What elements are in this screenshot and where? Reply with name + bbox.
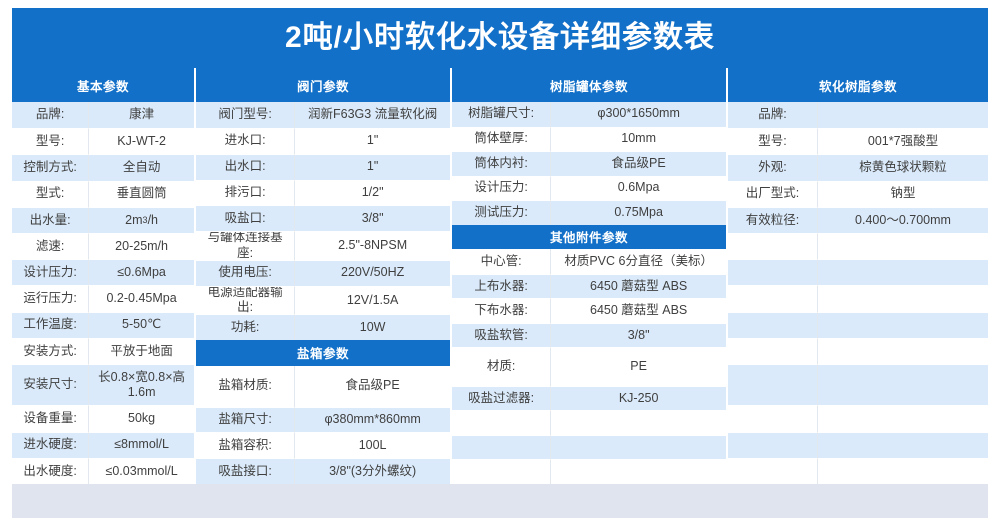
row-label: 盐箱材质: — [196, 366, 295, 407]
row-value: φ300*1650mm — [551, 102, 726, 127]
row-value: 5-50℃ — [89, 312, 194, 338]
table-row: 筒体壁厚: 10mm — [452, 127, 726, 152]
section-header-other-accessories: 其他附件参数 — [452, 225, 726, 250]
row-value: 食品级PE — [551, 151, 726, 176]
row-value — [818, 405, 988, 431]
group-header-valve: 阀门参数 — [196, 68, 452, 102]
group-header-resin-tank: 树脂罐体参数 — [452, 68, 728, 102]
table-row: 下布水器: 6450 蘑菇型 ABS — [452, 298, 726, 323]
table-row: 吸盐软管: 3/8" — [452, 323, 726, 348]
table-row-empty — [452, 410, 726, 435]
row-label: 吸盐口: — [196, 205, 295, 231]
row-value: 1/2" — [295, 180, 450, 206]
group-header-row: 基本参数 阀门参数 树脂罐体参数 软化树脂参数 — [12, 68, 988, 102]
row-value: 材质PVC 6分直径（美标） — [551, 249, 726, 274]
row-label — [728, 405, 818, 431]
row-label: 安装尺寸: — [12, 364, 89, 405]
table-row: 品牌: — [728, 102, 988, 128]
table-row-empty — [452, 459, 726, 484]
row-value — [818, 233, 988, 259]
page-title-band: 2吨/小时软化水设备详细参数表 — [12, 8, 988, 68]
row-label: 安装方式: — [12, 338, 89, 364]
table-row: 盐箱尺寸: φ380mm*860mm — [196, 407, 450, 433]
row-value — [818, 102, 988, 128]
row-value: KJ-WT-2 — [89, 128, 194, 154]
row-value: 平放于地面 — [89, 338, 194, 364]
table-row-empty — [728, 364, 988, 405]
table-row: 型号: 001*7强酸型 — [728, 128, 988, 154]
table-row-empty — [728, 233, 988, 259]
table-row: 安装尺寸: 长0.8×宽0.8×高1.6m — [12, 364, 194, 405]
table-row-empty — [728, 458, 988, 484]
row-label: 吸盐过滤器: — [452, 386, 551, 411]
table-row-empty — [728, 432, 988, 458]
table-row: 运行压力: 0.2-0.45Mpa — [12, 285, 194, 311]
table-row: 排污口: 1/2" — [196, 180, 450, 206]
row-value — [818, 458, 988, 484]
row-value: 50kg — [89, 405, 194, 431]
row-value — [818, 338, 988, 364]
section-header-salt-box: 盐箱参数 — [196, 340, 450, 366]
row-label: 设计压力: — [12, 259, 89, 285]
row-label: 出水口: — [196, 154, 295, 180]
table-row: 安装方式: 平放于地面 — [12, 338, 194, 364]
row-label — [452, 459, 551, 484]
parameter-grid: 品牌: 康津 型号: KJ-WT-2 控制方式: 全自动 型式: 垂直圆筒 出水… — [12, 102, 988, 484]
row-value: 6450 蘑菇型 ABS — [551, 298, 726, 323]
row-label: 吸盐接口: — [196, 458, 295, 484]
table-row: 阀门型号: 润新F63G3 流量软化阀 — [196, 102, 450, 128]
table-row-empty — [452, 435, 726, 460]
row-value: 001*7强酸型 — [818, 128, 988, 154]
row-value: ≤0.03mmol/L — [89, 458, 194, 484]
row-label: 排污口: — [196, 180, 295, 206]
row-label — [452, 435, 551, 460]
parameter-table-page: 2吨/小时软化水设备详细参数表 基本参数 阀门参数 树脂罐体参数 软化树脂参数 … — [0, 0, 1000, 529]
page-title: 2吨/小时软化水设备详细参数表 — [285, 23, 715, 53]
row-label: 品牌: — [12, 102, 89, 128]
row-value — [818, 432, 988, 458]
group-header-resin: 软化树脂参数 — [728, 68, 988, 102]
row-label: 树脂罐尺寸: — [452, 102, 551, 127]
row-value — [551, 435, 726, 460]
group-header-basic: 基本参数 — [12, 68, 196, 102]
row-label — [728, 285, 818, 311]
table-row: 外观: 棕黄色球状颗粒 — [728, 154, 988, 180]
row-value — [551, 459, 726, 484]
column-group-valve: 阀门型号: 润新F63G3 流量软化阀 进水口: 1" 出水口: 1" 排污口:… — [196, 102, 452, 484]
row-value: 康津 — [89, 102, 194, 128]
row-label: 型式: — [12, 181, 89, 207]
row-value: 10W — [295, 314, 450, 340]
table-row: 出水口: 1" — [196, 154, 450, 180]
row-label: 出水硬度: — [12, 458, 89, 484]
row-label: 运行压力: — [12, 285, 89, 311]
row-label: 盐箱容积: — [196, 432, 295, 458]
row-value: 20-25m/h — [89, 233, 194, 259]
table-row: 设计压力: ≤0.6Mpa — [12, 259, 194, 285]
table-row: 中心管: 材质PVC 6分直径（美标） — [452, 249, 726, 274]
row-value: 220V/50HZ — [295, 260, 450, 286]
row-label: 电源适配器输出: — [196, 286, 295, 315]
row-value: 2m3/h — [89, 207, 194, 233]
row-label: 设计压力: — [452, 176, 551, 201]
table-row: 测试压力: 0.75Mpa — [452, 200, 726, 225]
row-value: φ380mm*860mm — [295, 407, 450, 433]
row-label: 筒体内衬: — [452, 151, 551, 176]
row-label: 进水硬度: — [12, 432, 89, 458]
row-value: 全自动 — [89, 154, 194, 180]
row-label: 滤速: — [12, 233, 89, 259]
row-value: 0.75Mpa — [551, 200, 726, 225]
row-label: 吸盐软管: — [452, 323, 551, 348]
table-row: 功耗: 10W — [196, 314, 450, 340]
table-row: 出厂型式: 钠型 — [728, 181, 988, 207]
table-row: 树脂罐尺寸: φ300*1650mm — [452, 102, 726, 127]
table-row: 控制方式: 全自动 — [12, 154, 194, 180]
row-value: 食品级PE — [295, 366, 450, 407]
table-row-empty — [728, 259, 988, 285]
table-row: 型式: 垂直圆筒 — [12, 181, 194, 207]
row-value: ≤0.6Mpa — [89, 259, 194, 285]
table-row: 设备重量: 50kg — [12, 405, 194, 431]
row-label: 进水口: — [196, 128, 295, 154]
row-label: 出厂型式: — [728, 181, 818, 207]
table-row: 电源适配器输出: 12V/1.5A — [196, 286, 450, 315]
row-label: 工作温度: — [12, 312, 89, 338]
bottom-band — [12, 484, 988, 518]
table-row: 筒体内衬: 食品级PE — [452, 151, 726, 176]
table-row-empty — [728, 405, 988, 431]
row-value: 钠型 — [818, 181, 988, 207]
row-value: 0.400～0.700mm — [818, 207, 988, 233]
row-value: 2.5"-8NPSM — [295, 231, 450, 260]
table-row: 滤速: 20-25m/h — [12, 233, 194, 259]
table-row: 型号: KJ-WT-2 — [12, 128, 194, 154]
row-label — [728, 312, 818, 338]
table-row: 使用电压: 220V/50HZ — [196, 260, 450, 286]
row-value: 长0.8×宽0.8×高1.6m — [89, 364, 194, 405]
column-group-resin-tank: 树脂罐尺寸: φ300*1650mm 筒体壁厚: 10mm 筒体内衬: 食品级P… — [452, 102, 728, 484]
row-value: 12V/1.5A — [295, 286, 450, 315]
row-label: 测试压力: — [452, 200, 551, 225]
row-value: 润新F63G3 流量软化阀 — [295, 102, 450, 128]
row-label — [728, 458, 818, 484]
row-value: 10mm — [551, 127, 726, 152]
table-row: 与罐体连接基座: 2.5"-8NPSM — [196, 231, 450, 260]
row-label: 有效粒径: — [728, 207, 818, 233]
row-value: 100L — [295, 432, 450, 458]
row-value — [818, 364, 988, 405]
table-row: 出水量: 2m3/h — [12, 207, 194, 233]
row-value — [818, 285, 988, 311]
row-label — [728, 432, 818, 458]
row-label: 功耗: — [196, 314, 295, 340]
row-value: 3/8" — [295, 205, 450, 231]
row-label: 筒体壁厚: — [452, 127, 551, 152]
row-value — [818, 259, 988, 285]
row-label: 材质: — [452, 347, 551, 386]
table-row-empty — [728, 338, 988, 364]
row-value: 垂直圆筒 — [89, 181, 194, 207]
table-row: 上布水器: 6450 蘑菇型 ABS — [452, 274, 726, 299]
row-value: 1" — [295, 154, 450, 180]
column-group-basic: 品牌: 康津 型号: KJ-WT-2 控制方式: 全自动 型式: 垂直圆筒 出水… — [12, 102, 196, 484]
row-value: PE — [551, 347, 726, 386]
table-row: 有效粒径: 0.400～0.700mm — [728, 207, 988, 233]
row-label: 型号: — [12, 128, 89, 154]
row-label: 外观: — [728, 154, 818, 180]
table-row: 进水口: 1" — [196, 128, 450, 154]
table-row: 吸盐口: 3/8" — [196, 205, 450, 231]
row-value: KJ-250 — [551, 386, 726, 411]
row-label: 型号: — [728, 128, 818, 154]
row-value: 3/8" — [551, 323, 726, 348]
table-row: 吸盐接口: 3/8"(3分外螺纹) — [196, 458, 450, 484]
table-row-empty — [728, 285, 988, 311]
row-label: 上布水器: — [452, 274, 551, 299]
row-label: 下布水器: — [452, 298, 551, 323]
row-value: ≤8mmol/L — [89, 432, 194, 458]
row-label: 控制方式: — [12, 154, 89, 180]
table-row: 出水硬度: ≤0.03mmol/L — [12, 458, 194, 484]
table-row: 盐箱容积: 100L — [196, 432, 450, 458]
row-value: 3/8"(3分外螺纹) — [295, 458, 450, 484]
row-label: 使用电压: — [196, 260, 295, 286]
table-row: 盐箱材质: 食品级PE — [196, 366, 450, 407]
row-label: 中心管: — [452, 249, 551, 274]
row-value — [818, 312, 988, 338]
row-label: 阀门型号: — [196, 102, 295, 128]
row-value: 0.6Mpa — [551, 176, 726, 201]
table-row: 品牌: 康津 — [12, 102, 194, 128]
row-value: 棕黄色球状颗粒 — [818, 154, 988, 180]
table-row: 吸盐过滤器: KJ-250 — [452, 386, 726, 411]
row-label — [728, 259, 818, 285]
table-row-empty — [728, 312, 988, 338]
row-value: 0.2-0.45Mpa — [89, 285, 194, 311]
row-label: 与罐体连接基座: — [196, 231, 295, 260]
column-group-resin: 品牌: 型号: 001*7强酸型 外观: 棕黄色球状颗粒 出厂型式: 钠型 有效… — [728, 102, 988, 484]
row-label: 盐箱尺寸: — [196, 407, 295, 433]
row-label — [452, 410, 551, 435]
row-value: 6450 蘑菇型 ABS — [551, 274, 726, 299]
table-row: 工作温度: 5-50℃ — [12, 312, 194, 338]
row-value — [551, 410, 726, 435]
table-row: 设计压力: 0.6Mpa — [452, 176, 726, 201]
table-row: 进水硬度: ≤8mmol/L — [12, 432, 194, 458]
table-row: 材质: PE — [452, 347, 726, 386]
row-label — [728, 364, 818, 405]
row-label — [728, 233, 818, 259]
row-label: 设备重量: — [12, 405, 89, 431]
row-label: 品牌: — [728, 102, 818, 128]
row-value: 1" — [295, 128, 450, 154]
row-label — [728, 338, 818, 364]
row-label: 出水量: — [12, 207, 89, 233]
